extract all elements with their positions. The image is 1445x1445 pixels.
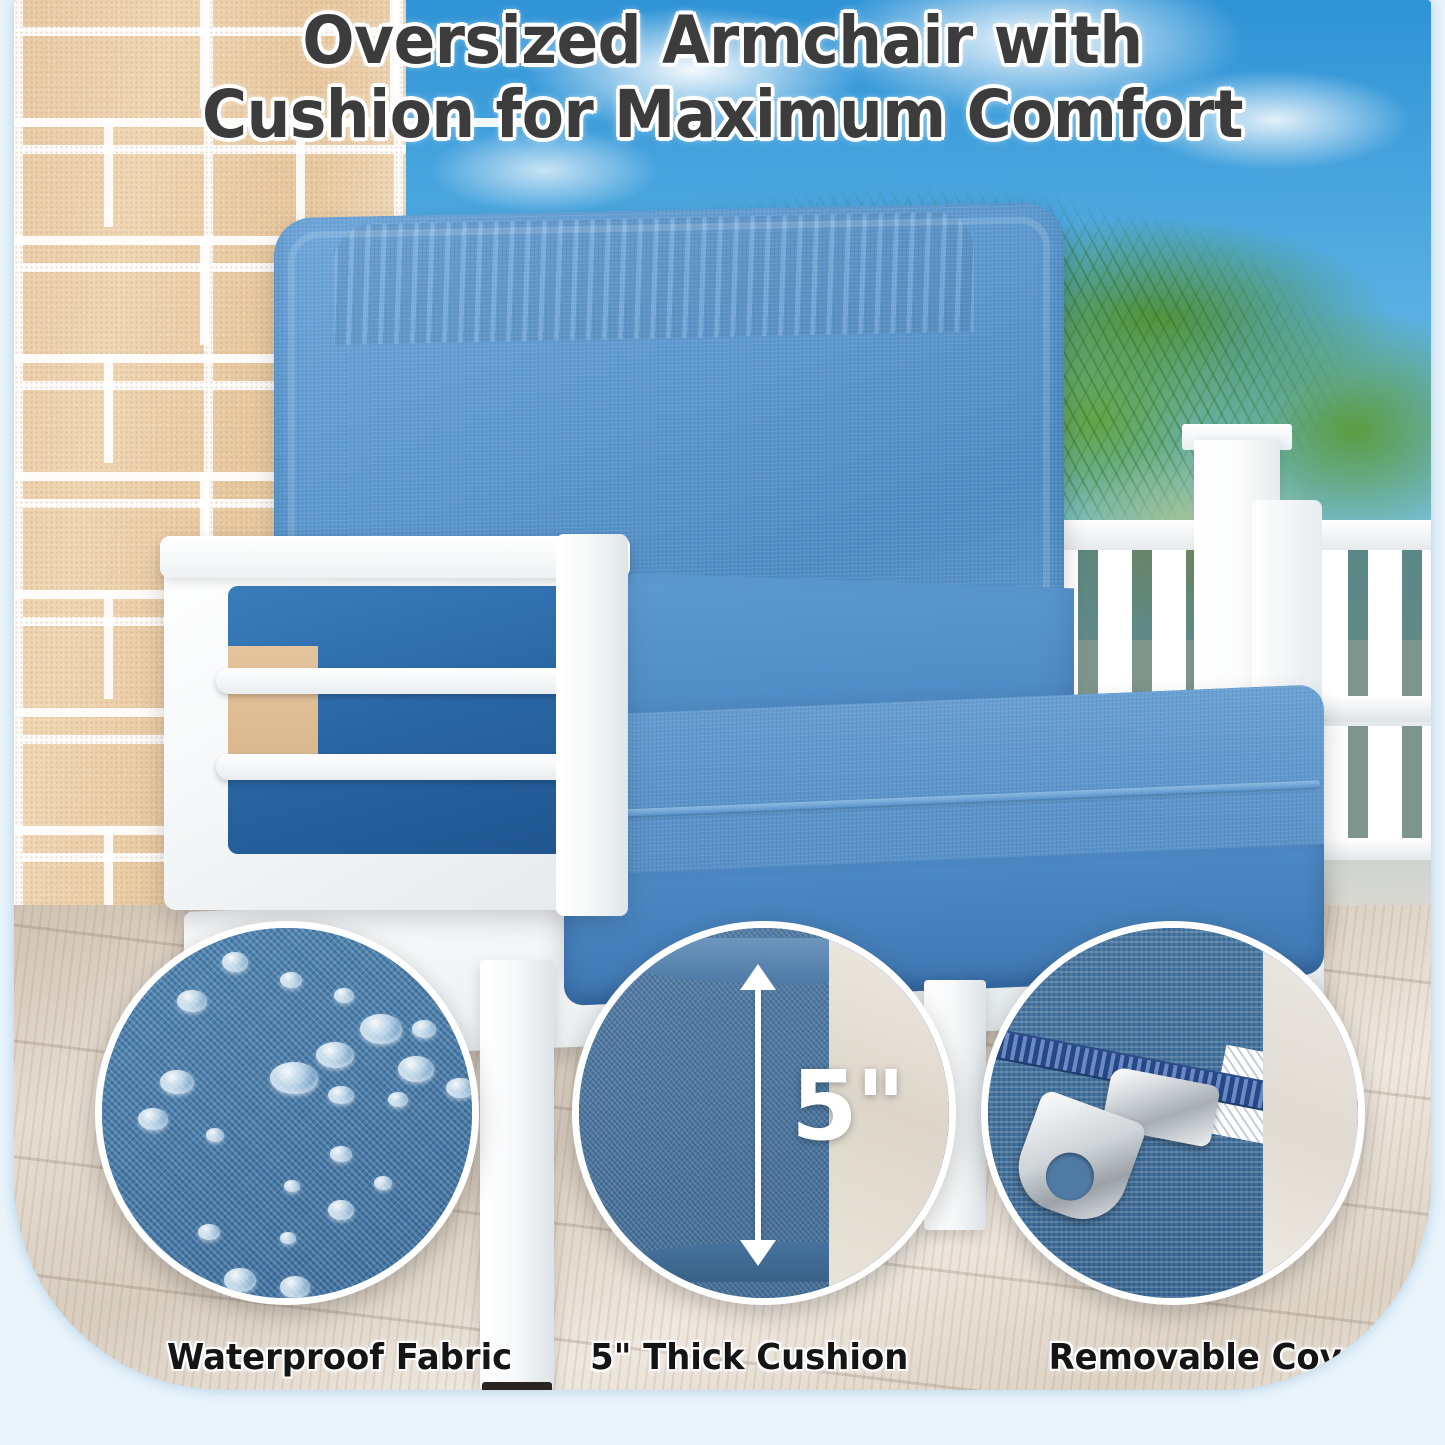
water-drop-icon	[138, 1108, 168, 1130]
feature-callouts: 5"	[14, 0, 1431, 1390]
water-drop-icon	[328, 1200, 354, 1220]
measure-arrow-icon	[755, 986, 761, 1248]
thickness-value: 5"	[791, 1050, 904, 1162]
feature-label-removable: Removable Cover	[1049, 1337, 1382, 1378]
water-drop-icon	[360, 1014, 402, 1044]
water-drop-icon	[177, 990, 207, 1012]
feature-bubble-thickness: 5"	[572, 921, 956, 1305]
water-drop-icon	[206, 1128, 224, 1142]
water-drop-icon	[388, 1092, 408, 1107]
water-drop-icon	[270, 1062, 318, 1094]
water-drop-icon	[446, 1078, 474, 1098]
water-drop-icon	[398, 1056, 434, 1082]
water-drop-icon	[280, 1276, 310, 1298]
measure-arrow-head-down-icon	[740, 1240, 776, 1266]
water-drop-icon	[334, 988, 354, 1003]
water-drop-icon	[222, 952, 248, 972]
water-drop-icon	[330, 1146, 352, 1162]
water-drop-icon	[280, 972, 302, 988]
feature-bubble-waterproof	[95, 921, 479, 1305]
water-drop-icon	[328, 1086, 354, 1104]
water-drop-icon	[160, 1070, 194, 1094]
feature-bubble-removable-cover	[981, 921, 1365, 1305]
water-drop-icon	[284, 1180, 300, 1192]
deck-floor-peek	[1263, 921, 1365, 1305]
water-drop-icon	[280, 1232, 296, 1244]
feature-label-thickness: 5" Thick Cushion	[590, 1337, 908, 1378]
feature-label-waterproof: Waterproof Fabric	[167, 1337, 512, 1378]
water-drop-icon	[316, 1042, 354, 1068]
product-photo-plate: Oversized Armchair with Cushion for Maxi…	[14, 0, 1431, 1390]
measure-arrow-head-up-icon	[740, 964, 776, 990]
water-drop-icon	[224, 1268, 256, 1292]
product-infographic: Oversized Armchair with Cushion for Maxi…	[0, 0, 1445, 1445]
water-drop-icon	[198, 1224, 220, 1240]
water-drop-icon	[374, 1176, 392, 1190]
water-drop-icon	[412, 1020, 436, 1038]
